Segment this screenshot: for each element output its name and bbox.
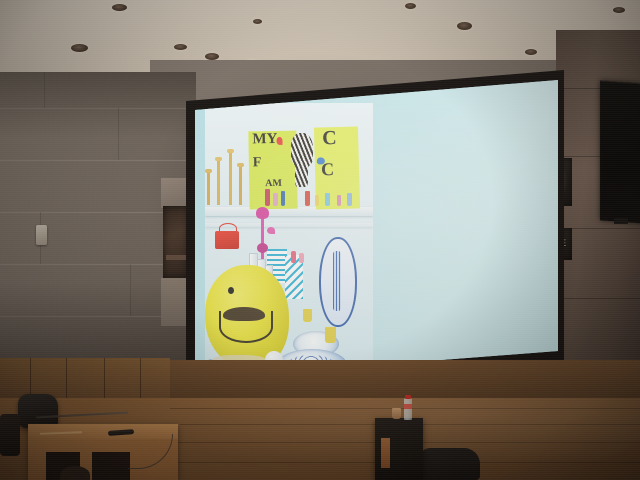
small-bottle [299, 253, 304, 263]
poster-left-line2: F [253, 157, 262, 170]
candlestick-top [237, 163, 244, 167]
table-shelf-opening [92, 452, 130, 480]
figurine [305, 191, 310, 206]
ceiling-downlight-icon [112, 4, 127, 11]
slide-photograph: MY F AM C C [205, 103, 373, 373]
ceiling-downlight-icon [457, 22, 472, 30]
figurine [347, 193, 352, 206]
dark-chair[interactable] [420, 448, 480, 480]
figurine [315, 195, 319, 206]
pink-flower [256, 207, 269, 219]
bottle-label [404, 404, 412, 409]
wall-seam [130, 264, 131, 316]
ceiling-downlight-icon [174, 44, 187, 50]
dark-object-left [0, 414, 20, 456]
yellow-cup [325, 327, 336, 343]
poster-left-line3: AM [265, 179, 282, 188]
ceiling-downlight-icon [71, 44, 88, 52]
candlestick [207, 173, 210, 205]
wall-mounted-display[interactable] [600, 80, 640, 223]
ceiling-downlight-icon [253, 19, 262, 24]
zebra-legs [295, 161, 308, 187]
pink-bud [267, 227, 275, 234]
projection-screen: MY F AM C C [150, 55, 570, 395]
poster-bird-icon [276, 137, 282, 145]
paper-cup[interactable] [392, 408, 401, 419]
candlestick [217, 161, 220, 205]
candlestick-top [227, 149, 234, 153]
auditorium-photo: ERNI SPACE D MY F AM [0, 0, 640, 480]
ceiling-downlight-icon [405, 3, 416, 9]
candlestick-top [215, 157, 222, 161]
figurine [325, 193, 330, 206]
poster-right-line1: C [322, 129, 337, 148]
case-label [381, 438, 390, 468]
pink-stem [261, 215, 264, 261]
smiley-eye [228, 287, 234, 294]
wall-mounted-sensor-icon [36, 225, 47, 245]
figurine [337, 195, 341, 206]
ceiling-downlight-icon [613, 7, 625, 13]
backpack[interactable] [18, 394, 58, 428]
figurine [273, 193, 278, 206]
candlestick-top [205, 169, 212, 173]
candlestick [229, 153, 232, 205]
wall-seam [118, 108, 119, 160]
display-mount [614, 218, 628, 224]
small-bottle [291, 251, 296, 263]
poster-butterfly-icon [317, 157, 325, 164]
red-handbag [215, 231, 239, 249]
figurine [265, 189, 270, 206]
figurine [281, 191, 285, 206]
yellow-cup [303, 309, 312, 322]
candlestick [239, 167, 242, 205]
bottle-cap [405, 395, 411, 399]
wall-seam [44, 72, 45, 108]
audience-head-silhouette [60, 466, 90, 480]
poster-left-line1: MY [252, 133, 277, 147]
smiley-mouth [219, 311, 273, 343]
water-bottle[interactable] [404, 398, 412, 420]
tray-pattern [333, 251, 341, 311]
